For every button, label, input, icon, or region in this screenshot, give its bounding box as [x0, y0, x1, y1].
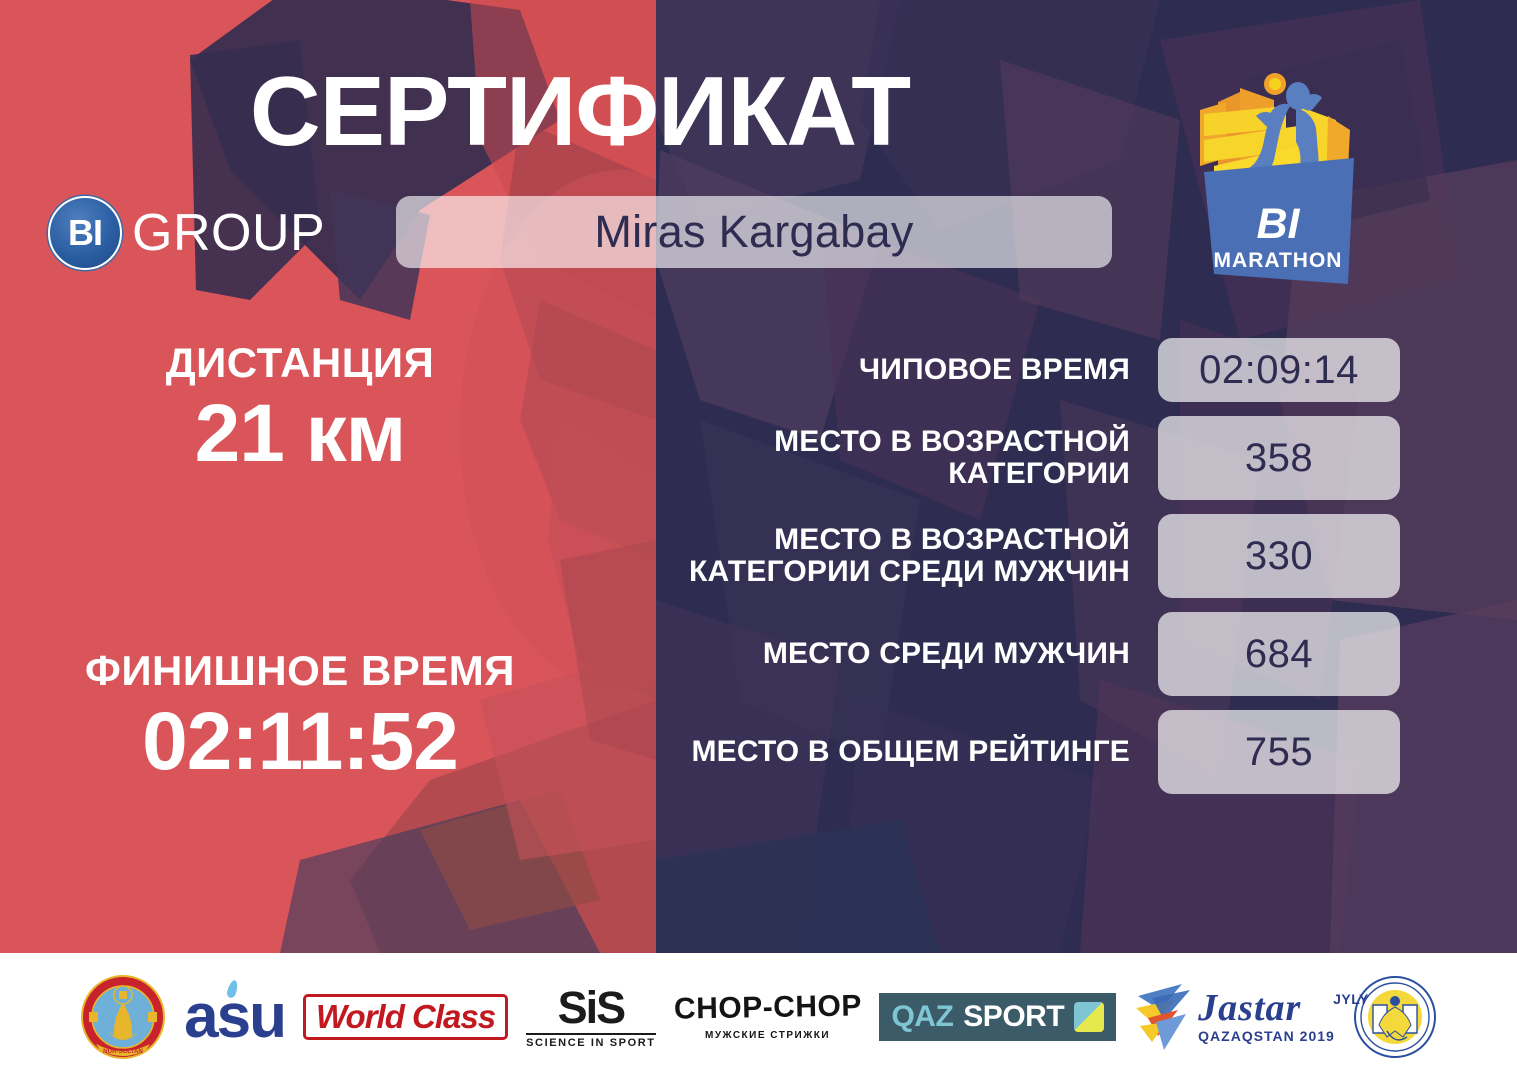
stat-value: 684 — [1245, 632, 1313, 677]
finish-time-block: ФИНИШНОЕ ВРЕМЯ 02:11:52 — [60, 648, 540, 789]
stat-label: МЕСТО В ВОЗРАСТНОЙ КАТЕГОРИИ СРЕДИ МУЖЧИ… — [630, 524, 1158, 589]
stats-list: ЧИПОВОЕ ВРЕМЯ 02:09:14 МЕСТО В ВОЗРАСТНО… — [630, 338, 1400, 808]
distance-block: ДИСТАНЦИЯ 21 км — [60, 340, 540, 481]
sis-tagline: SCIENCE IN SPORT — [526, 1033, 656, 1049]
stat-value-pill: 02:09:14 — [1158, 338, 1400, 402]
sponsor-ministry-emblem — [1353, 967, 1437, 1067]
sponsor-nur-sultan-emblem: NUR-SULTAN — [80, 967, 166, 1067]
stat-row: МЕСТО В ВОЗРАСТНОЙ КАТЕГОРИИ СРЕДИ МУЖЧИ… — [630, 514, 1400, 598]
finish-time-label: ФИНИШНОЕ ВРЕМЯ — [60, 648, 540, 693]
qazsport-label-b: SPORT — [963, 1000, 1064, 1034]
sponsor-asu: asu — [184, 967, 285, 1067]
stat-row: МЕСТО СРЕДИ МУЖЧИН 684 — [630, 612, 1400, 696]
jastar-bird-icon — [1134, 980, 1196, 1054]
sponsor-qazsport: QAZ SPORT — [879, 967, 1116, 1067]
stat-row: МЕСТО В ВОЗРАСТНОЙ КАТЕГОРИИ 358 — [630, 416, 1400, 500]
jastar-jyly-label: JYLY — [1333, 991, 1369, 1007]
stat-label: МЕСТО В ВОЗРАСТНОЙ КАТЕГОРИИ — [630, 426, 1158, 491]
stat-value: 358 — [1245, 436, 1313, 481]
stat-label: МЕСТО СРЕДИ МУЖЧИН — [630, 638, 1158, 670]
stat-label: МЕСТО В ОБЩЕМ РЕЙТИНГЕ — [630, 736, 1158, 768]
sponsor-jastar-jyly: Jastar JYLY QAZAQSTAN 2019 — [1134, 967, 1335, 1067]
bi-mark-label: BI — [68, 215, 102, 251]
distance-label: ДИСТАНЦИЯ — [60, 340, 540, 385]
stat-value-pill: 684 — [1158, 612, 1400, 696]
bi-circle-icon: BI — [48, 196, 122, 270]
stat-value: 330 — [1245, 534, 1313, 579]
nur-sultan-label: NUR-SULTAN — [103, 1048, 143, 1055]
stat-value-pill: 755 — [1158, 710, 1400, 794]
stat-label: ЧИПОВОЕ ВРЕМЯ — [630, 354, 1158, 386]
chop-chop-tagline: МУЖСКИЕ СТРИЖКИ — [674, 1030, 862, 1041]
bi-group-label: GROUP — [132, 207, 325, 259]
sponsor-world-class: World Class — [303, 967, 508, 1067]
finish-time-value: 02:11:52 — [60, 695, 540, 788]
stat-value: 02:09:14 — [1199, 348, 1359, 393]
bi-group-logo: BI GROUP — [48, 196, 325, 270]
stat-value-pill: 358 — [1158, 416, 1400, 500]
distance-value: 21 км — [60, 387, 540, 480]
sponsor-logos: NUR-SULTAN asu World Class SiS SCIENCE I… — [0, 953, 1517, 1080]
sponsor-chop-chop: CHOP-CHOP МУЖСКИЕ СТРИЖКИ — [674, 967, 862, 1067]
svg-text:MARATHON: MARATHON — [1214, 249, 1343, 272]
stat-row: ЧИПОВОЕ ВРЕМЯ 02:09:14 — [630, 338, 1400, 402]
svg-text:BI: BI — [1257, 200, 1301, 248]
jastar-label: Jastar — [1198, 989, 1335, 1027]
page-title: СЕРТИФИКАТ — [0, 62, 1160, 160]
qazsport-label-a: QAZ — [891, 1000, 953, 1034]
chop-chop-label: CHOP-CHOP — [673, 991, 861, 1024]
sis-label: SiS — [526, 985, 656, 1030]
certificate-root: СЕРТИФИКАТ BI GROUP Miras Kargabay — [0, 0, 1517, 1080]
stat-row: МЕСТО В ОБЩЕМ РЕЙТИНГЕ 755 — [630, 710, 1400, 794]
stat-value-pill: 330 — [1158, 514, 1400, 598]
athlete-name-field: Miras Kargabay — [396, 196, 1112, 268]
jastar-subtitle: QAZAQSTAN 2019 — [1198, 1028, 1335, 1044]
world-class-label: World Class — [316, 1000, 495, 1033]
athlete-name-value: Miras Kargabay — [594, 206, 913, 258]
bi-marathon-logo: BI MARATHON — [1178, 62, 1383, 302]
sponsor-sis: SiS SCIENCE IN SPORT — [526, 967, 656, 1067]
qazsport-mark-icon — [1074, 1002, 1104, 1032]
stat-value: 755 — [1245, 730, 1313, 775]
